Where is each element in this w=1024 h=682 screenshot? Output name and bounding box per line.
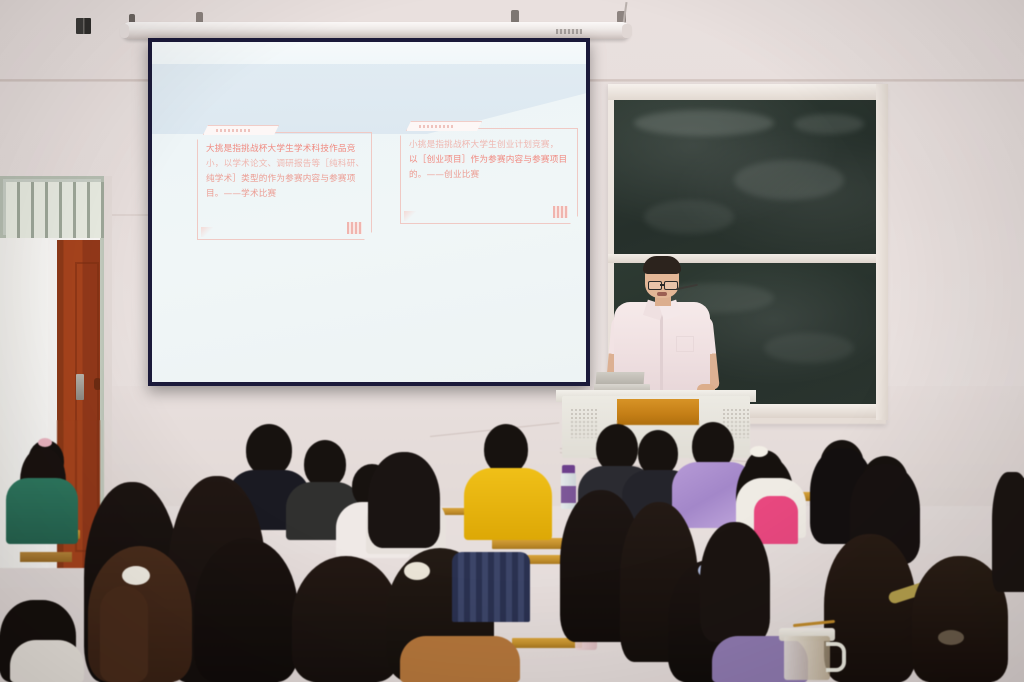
- slide-text-box-left: 大挑是指挑战杯大学生学术科技作品竞 小，以学术论文、调研报告等［纯科研、 纯学术…: [197, 132, 372, 240]
- projector-screen-housing[interactable]: [122, 22, 630, 39]
- white-scrunchie: [122, 566, 150, 585]
- slide-text-box-right: 小挑是指挑战杯大学生创业计划竞赛， 以［创业项目］作为参赛内容与参赛项目 的。—…: [400, 128, 578, 224]
- student-hair-long: [194, 538, 298, 682]
- student-torso-yellow: [464, 468, 552, 540]
- classroom-photo: 大挑是指挑战杯大学生学术科技作品竞 小，以学术论文、调研报告等［纯科研、 纯学术…: [0, 0, 1024, 682]
- slide-left-line-1: 大挑是指挑战杯大学生学术科技作品竞: [206, 142, 363, 157]
- student-head: [484, 424, 528, 474]
- student-torso-plaid: [452, 552, 530, 622]
- slide-left-line-3: 纯学术］类型的作为参赛内容与参赛项: [206, 172, 363, 187]
- wall-fixture-icon: [76, 18, 91, 34]
- chalkboard-panel-upper: [614, 100, 880, 254]
- drink-tumbler: [784, 636, 830, 680]
- presenter-mouth: [657, 292, 667, 296]
- student-torso: [10, 640, 84, 682]
- slide-left-line-4: 目。——学术比赛: [206, 187, 363, 202]
- student-head: [368, 452, 440, 548]
- presenter-hair: [643, 256, 681, 274]
- slide-accent-band: [152, 64, 586, 134]
- presenter-shirt-placket: [660, 312, 663, 390]
- student-head: [304, 440, 346, 488]
- chalkboard-top-trim: [608, 84, 886, 100]
- white-scrunchie: [404, 562, 430, 580]
- slide-box-mark-icon: [553, 206, 568, 218]
- hair-tie: [938, 630, 964, 645]
- slide-right-text: 小挑是指挑战杯大学生创业计划竞赛， 以［创业项目］作为参赛内容与参赛项目 的。—…: [400, 128, 578, 191]
- student-torso-pink: [754, 496, 798, 544]
- lectern-wood-trim: [617, 399, 699, 425]
- presenter-shirt-pocket: [676, 336, 694, 352]
- student-head: [246, 424, 292, 476]
- slide-box-corner-accent: [404, 211, 416, 221]
- slide-box-corner-accent: [201, 227, 213, 237]
- student-torso-green: [6, 478, 78, 544]
- glasses-bridge: [660, 284, 664, 286]
- student-hair-long: [700, 522, 770, 642]
- screen-housing-end-cap: [120, 24, 129, 38]
- cup-handle: [826, 642, 846, 672]
- pink-hair-tie: [38, 438, 52, 447]
- slide-right-line-2: 以［创业项目］作为参赛内容与参赛项目: [409, 153, 569, 168]
- student-torso: [400, 636, 520, 682]
- door-lock-icon[interactable]: [76, 374, 84, 400]
- screen-brand-label: [556, 29, 582, 34]
- door-panel: [75, 262, 99, 552]
- speaker-grille-left: [570, 408, 598, 438]
- student-hair-long: [292, 556, 400, 682]
- white-scrunchie: [750, 446, 768, 457]
- screen-housing-end-cap: [622, 24, 632, 38]
- transom-glass-bars: [6, 182, 104, 238]
- desk: [20, 552, 72, 562]
- chalkboard-right-trim: [876, 84, 888, 420]
- projection-screen[interactable]: 大挑是指挑战杯大学生学术科技作品竞 小，以学术论文、调研报告等［纯科研、 纯学术…: [152, 42, 586, 382]
- slide-right-line-1: 小挑是指挑战杯大学生创业计划竞赛，: [409, 138, 569, 153]
- student-hair-long: [992, 472, 1024, 592]
- bottle-label: [561, 486, 576, 503]
- transom-window: [0, 176, 104, 238]
- slide-left-text: 大挑是指挑战杯大学生学术科技作品竞 小，以学术论文、调研报告等［纯科研、 纯学术…: [197, 132, 372, 210]
- slide-box-mark-icon: [347, 222, 362, 234]
- student-head: [596, 424, 638, 472]
- slide-left-line-2: 小，以学术论文、调研报告等［纯科研、: [206, 157, 363, 172]
- slide-right-line-3: 的。——创业比赛: [409, 168, 569, 183]
- ponytail-tail: [100, 586, 148, 682]
